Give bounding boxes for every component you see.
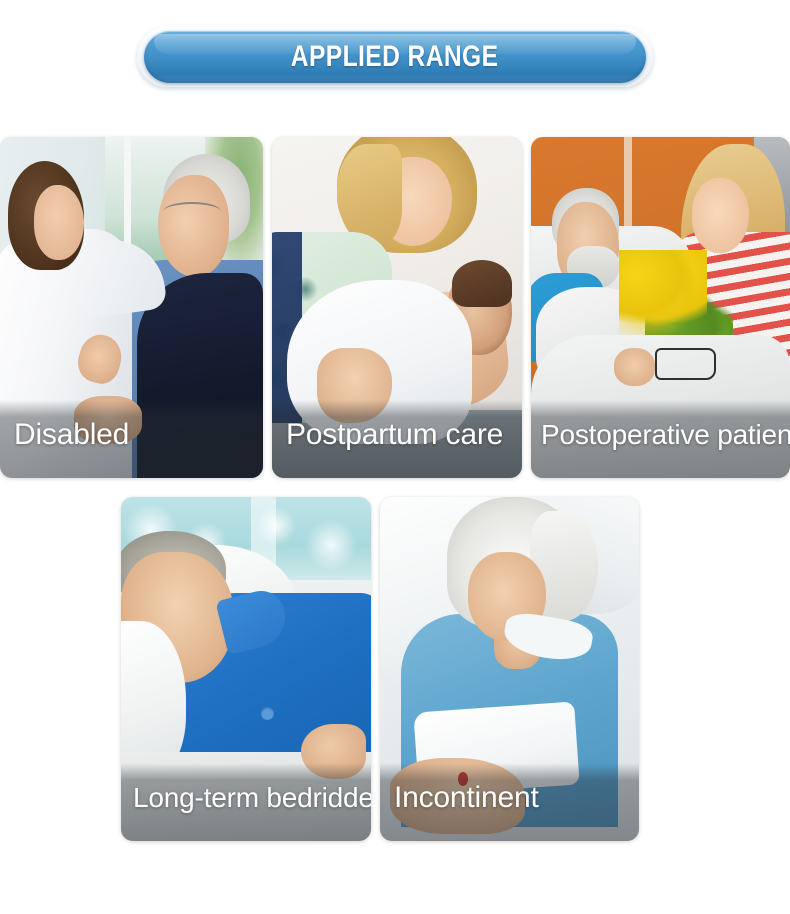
card-disabled[interactable]: Disabled [0, 137, 263, 478]
card-long-term-bedridden[interactable]: Long-term bedridden [121, 497, 371, 841]
nurse-face [34, 185, 84, 260]
held-hands [74, 396, 142, 444]
card-postoperative-patients[interactable]: Postoperative patients [531, 137, 790, 478]
visitor-face [692, 178, 749, 253]
card-incontinent[interactable]: Incontinent [380, 497, 639, 841]
applied-range-card-grid: Disabled Postpartum care [0, 0, 790, 914]
photo-incontinent [380, 497, 639, 841]
mother-hand [317, 348, 392, 423]
glasses-icon [163, 202, 221, 221]
nail-polish [458, 772, 468, 786]
man-face [158, 175, 229, 277]
shirt-button [261, 707, 274, 720]
photo-long-term-bedridden [121, 497, 371, 841]
patient-hand [301, 724, 366, 779]
patient-hands [390, 758, 525, 834]
patient-hand [614, 348, 655, 386]
baby-hair [452, 260, 512, 308]
tulips-icon [619, 250, 707, 335]
photo-disabled [0, 137, 263, 478]
card-postpartum-care[interactable]: Postpartum care [272, 137, 522, 478]
photo-postpartum-care [272, 137, 522, 478]
glasses-icon [655, 348, 716, 379]
photo-postoperative-patients [531, 137, 790, 478]
